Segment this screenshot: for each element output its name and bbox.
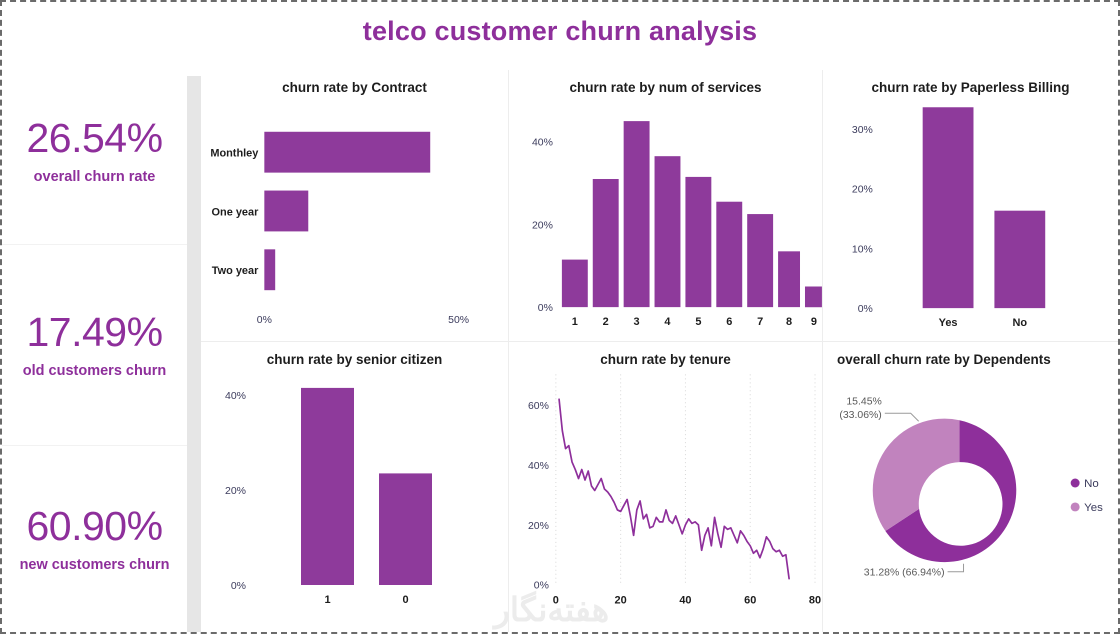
bar-two-year	[264, 249, 275, 290]
xtick-3: 3	[634, 316, 640, 328]
kpi-card-old-customers-churn: 17.49% old customers churn	[2, 245, 187, 446]
xtick-40: 40	[679, 595, 691, 607]
ytick-0: 0%	[858, 304, 873, 315]
donut-annotation-yes-line2: (33.06%)	[839, 410, 881, 421]
ytick-0: 0%	[538, 303, 553, 314]
bar-one-year	[264, 191, 308, 232]
xtick-50: 50%	[448, 315, 469, 326]
panel-churn-by-num-services: churn rate by num of services 0% 20% 40%…	[508, 70, 822, 342]
ytick-40: 40%	[225, 390, 246, 402]
xtick-1: 1	[324, 594, 330, 606]
ytick-10: 10%	[852, 244, 873, 255]
tenure-trend-line	[559, 399, 789, 578]
bar-services-5	[685, 177, 711, 307]
xtick-no: No	[1013, 317, 1028, 329]
kpi-value: 17.49%	[26, 311, 162, 354]
ytick-30: 30%	[852, 125, 873, 136]
xtick-0: 0%	[257, 315, 272, 326]
kpi-label: overall churn rate	[34, 169, 156, 185]
bar-paperless-yes	[923, 107, 974, 308]
ytick-two-year: Two year	[212, 265, 259, 277]
chart-churn-by-contract: Monthley One year Two year 0% 50%	[201, 70, 508, 341]
donut-legend: No Yes	[1071, 478, 1103, 514]
ytick-0: 0%	[231, 580, 246, 592]
bar-services-1	[562, 260, 588, 308]
xtick-80: 80	[809, 595, 821, 607]
panel-churn-by-contract: churn rate by Contract Monthley One year…	[201, 70, 508, 342]
bar-monthley	[264, 132, 430, 173]
xtick-8: 8	[786, 316, 792, 328]
xtick-20: 20	[615, 595, 627, 607]
xtick-4: 4	[664, 316, 671, 328]
ytick-one-year: One year	[212, 206, 260, 218]
xtick-2: 2	[603, 316, 609, 328]
legend-label-yes: Yes	[1084, 502, 1103, 514]
chart-churn-by-senior-citizen: 0% 20% 40% 1 0	[201, 342, 508, 632]
bar-senior-1	[301, 388, 354, 585]
panel-churn-by-tenure: churn rate by tenure 0% 20% 40% 60% 0 20…	[508, 342, 822, 632]
panel-churn-by-paperless-billing: churn rate by Paperless Billing 0% 10% 2…	[822, 70, 1118, 342]
xtick-1: 1	[572, 316, 578, 328]
kpi-value: 60.90%	[26, 505, 162, 548]
leader-line-yes	[885, 413, 919, 421]
chart-grid: churn rate by Contract Monthley One year…	[201, 70, 1118, 632]
donut-annotation-no: 31.28% (66.94%)	[864, 568, 945, 579]
bar-services-8	[778, 251, 800, 307]
ytick-40: 40%	[532, 138, 553, 149]
ytick-20: 20%	[852, 185, 873, 196]
chart-churn-by-num-services: 0% 20% 40% 1 2 3 4 5 6 7 8 9	[509, 70, 822, 341]
kpi-rail: 26.54% overall churn rate 17.49% old cus…	[2, 58, 187, 632]
kpi-label: old customers churn	[23, 363, 166, 379]
xtick-7: 7	[757, 316, 763, 328]
ytick-0: 0%	[534, 581, 549, 592]
legend-label-no: No	[1084, 478, 1099, 490]
gridlines	[556, 374, 815, 584]
kpi-card-overall-churn-rate: 26.54% overall churn rate	[2, 58, 187, 245]
bar-paperless-no	[994, 211, 1045, 308]
ytick-60: 60%	[528, 401, 549, 412]
bar-services-6	[716, 202, 742, 307]
bar-services-7	[747, 214, 773, 307]
dashboard-header: telco customer churn analysis	[2, 8, 1118, 54]
page-title: telco customer churn analysis	[363, 16, 757, 47]
kpi-label: new customers churn	[20, 557, 170, 573]
bar-senior-0	[379, 473, 432, 585]
xtick-9: 9	[811, 316, 817, 328]
kpi-value: 26.54%	[26, 117, 162, 160]
leader-line-no	[948, 564, 964, 572]
bar-services-2	[593, 179, 619, 307]
bar-services-9	[805, 287, 822, 308]
xtick-5: 5	[695, 316, 701, 328]
ytick-monthley: Monthley	[210, 148, 259, 160]
rail-divider-strip	[187, 76, 201, 632]
legend-swatch-no	[1071, 479, 1080, 488]
kpi-card-new-customers-churn: 60.90% new customers churn	[2, 446, 187, 632]
chart-churn-by-paperless-billing: 0% 10% 20% 30% Yes No	[823, 70, 1118, 341]
xtick-0: 0	[553, 595, 559, 607]
ytick-20: 20%	[532, 220, 553, 231]
panel-churn-by-dependents: overall churn rate by Dependents 15.45% …	[822, 342, 1118, 632]
ytick-20: 20%	[225, 485, 246, 497]
bar-services-4	[655, 156, 681, 307]
dashboard-page: telco customer churn analysis 26.54% ove…	[0, 0, 1120, 634]
xtick-6: 6	[726, 316, 732, 328]
bar-services-3	[624, 121, 650, 307]
ytick-40: 40%	[528, 461, 549, 472]
chart-churn-by-tenure: 0% 20% 40% 60% 0 20 40 60 80	[509, 342, 822, 632]
xtick-yes: Yes	[939, 317, 958, 329]
legend-swatch-yes	[1071, 502, 1080, 511]
panel-churn-by-senior-citizen: churn rate by senior citizen 0% 20% 40% …	[201, 342, 508, 632]
ytick-20: 20%	[528, 521, 549, 532]
xtick-0: 0	[402, 594, 408, 606]
chart-churn-by-dependents: 15.45% (33.06%) 31.28% (66.94%) No Yes	[823, 342, 1118, 632]
xtick-60: 60	[744, 595, 756, 607]
donut-annotation-yes-line1: 15.45%	[846, 396, 881, 407]
